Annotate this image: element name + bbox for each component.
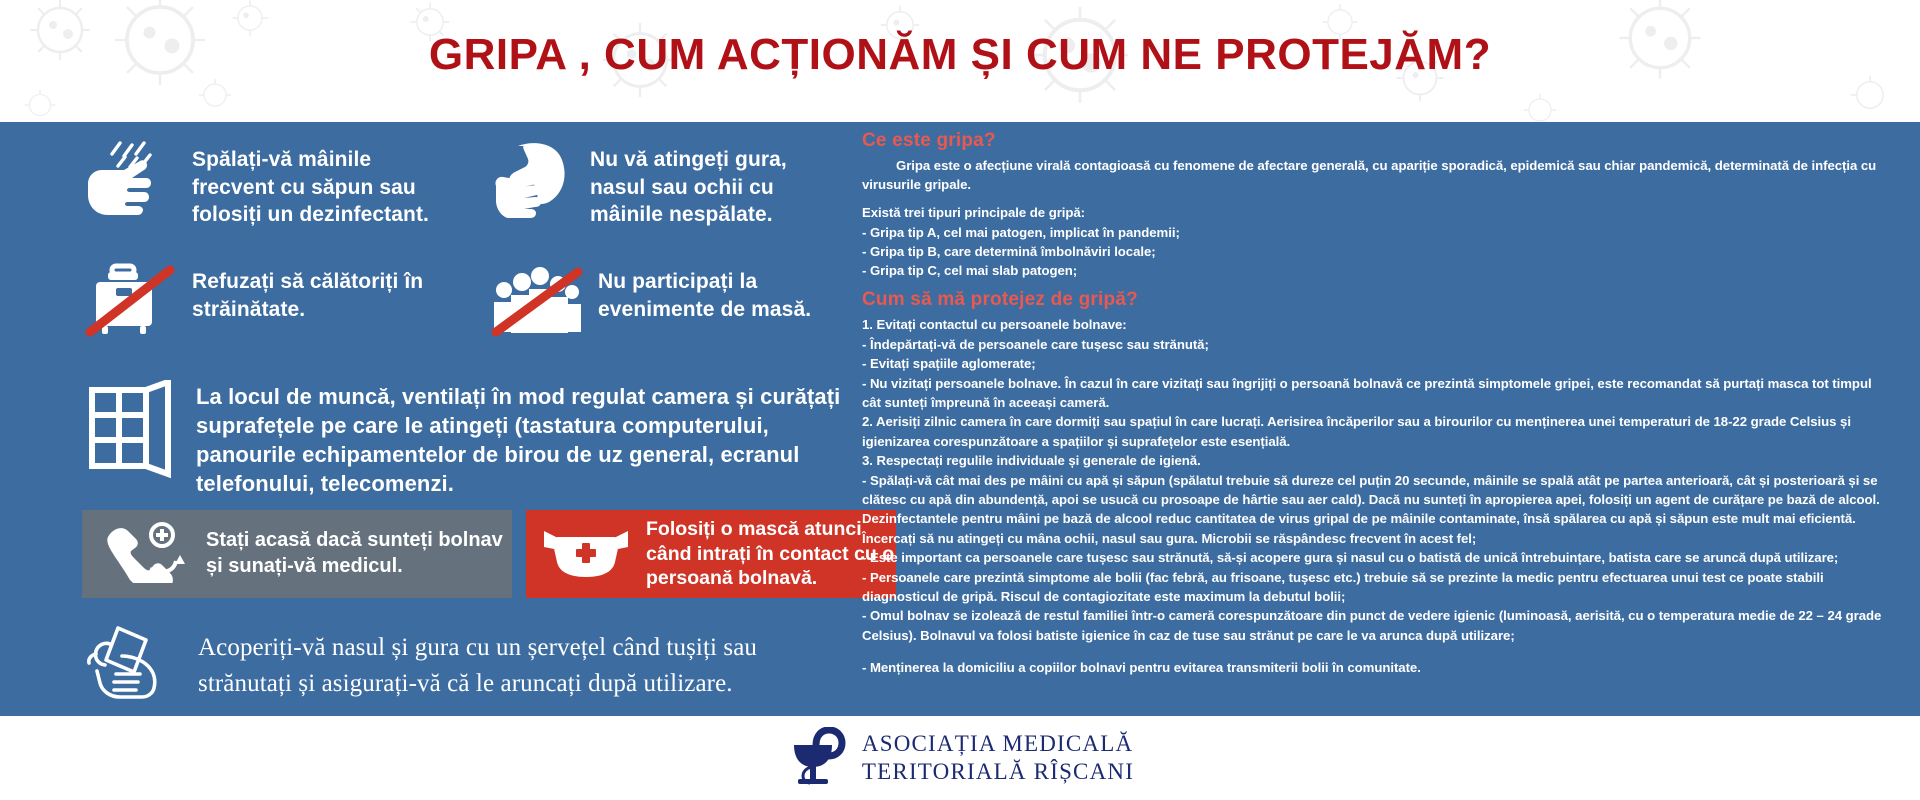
poster-footer: ASOCIAȚIA MEDICALĂ TERITORIALĂ RÎȘCANI (0, 716, 1920, 800)
prevention-tips-column: Spălați-vă mâinile frecvent cu săpun sau… (40, 122, 850, 716)
no-face-touch-icon (488, 140, 576, 218)
organization-name-line1: ASOCIAȚIA MEDICALĂ (862, 730, 1134, 758)
bowl-of-hygieia-icon (786, 727, 848, 789)
organization-name-line2: TERITORIALĂ RÎȘCANI (862, 758, 1134, 786)
box-wear-mask-label: Folosiți o mască atunci când intrați în … (646, 517, 896, 592)
tip-workplace-ventilation: La locul de muncă, ventilați în mod regu… (82, 380, 852, 498)
protection-item-7: - Spălați-vă cât mai des pe mâini cu apă… (862, 471, 1892, 549)
open-window-icon (82, 380, 178, 480)
organization-name: ASOCIAȚIA MEDICALĂ TERITORIALĂ RÎȘCANI (862, 730, 1134, 786)
organization-logo: ASOCIAȚIA MEDICALĂ TERITORIALĂ RÎȘCANI (786, 727, 1134, 789)
box-wear-mask: Folosiți o mască atunci când intrați în … (526, 510, 896, 598)
protection-item-4: - Nu vizitați persoanele bolnave. În caz… (862, 374, 1892, 413)
flu-types-list: Există trei tipuri principale de gripă: … (862, 203, 1892, 280)
tip-wash-hands: Spălați-vă mâinile frecvent cu săpun sau… (82, 140, 452, 229)
poster-header: GRIPA , CUM ACȚIONĂM ȘI CUM NE PROTEJĂM? (0, 0, 1920, 122)
protection-item-10: - Omul bolnav se izolează de restul fami… (862, 606, 1892, 645)
face-mask-icon (542, 523, 630, 586)
page-title: GRIPA , CUM ACȚIONĂM ȘI CUM NE PROTEJĂM? (0, 30, 1920, 80)
washing-hands-icon (82, 140, 178, 218)
protection-item-6: 3. Respectați regulile individuale și ge… (862, 451, 1892, 470)
spacer (862, 645, 1892, 658)
box-stay-home: Stați acasă dacă sunteți bolnav și sunaț… (82, 510, 512, 598)
protection-item-8: - Este important ca persoanele care tușe… (862, 548, 1892, 567)
tip-cover-cough-label: Acoperiți-vă nasul și gura cu un șervețe… (198, 622, 852, 701)
tissue-sneeze-icon (82, 622, 178, 706)
closing-note: - Menținerea la domiciliu a copiilor bol… (862, 658, 1892, 677)
tip-no-mass-events: Nu participați la evenimente de masă. (488, 262, 848, 340)
heading-what-is-flu: Ce este gripa? (862, 130, 1892, 152)
tip-no-mass-events-label: Nu participați la evenimente de masă. (598, 262, 848, 323)
tip-wash-hands-label: Spălați-vă mâinile frecvent cu săpun sau… (192, 140, 452, 229)
no-crowd-icon (488, 262, 584, 340)
flu-type-a: - Gripa tip A, cel mai patogen, implicat… (862, 223, 1892, 242)
information-column: Ce este gripa? Gripa este o afecțiune vi… (862, 130, 1892, 710)
flu-type-c: - Gripa tip C, cel mai slab patogen; (862, 261, 1892, 280)
infographic-poster: GRIPA , CUM ACȚIONĂM ȘI CUM NE PROTEJĂM? (0, 0, 1920, 800)
no-suitcase-icon (82, 262, 178, 340)
tip-no-travel-label: Refuzați să călătoriți în străinătate. (192, 262, 452, 323)
phone-medical-icon (98, 521, 190, 588)
tip-no-travel: Refuzați să călătoriți în străinătate. (82, 262, 452, 340)
protection-item-3: - Evitați spațiile aglomerate; (862, 354, 1892, 373)
protection-item-9: - Persoanele care prezintă simptome ale … (862, 568, 1892, 607)
protection-item-2: - Îndepărtați-vă de persoanele care tușe… (862, 335, 1892, 354)
protection-measures-list: 1. Evitați contactul cu persoanele bolna… (862, 315, 1892, 677)
main-panel: Spălați-vă mâinile frecvent cu săpun sau… (0, 122, 1920, 716)
protection-item-5: 2. Aerisiți zilnic camera în care dormiț… (862, 412, 1892, 451)
protection-item-1: 1. Evitați contactul cu persoanele bolna… (862, 315, 1892, 334)
flu-types-intro: Există trei tipuri principale de gripă: (862, 203, 1892, 222)
tip-workplace-ventilation-label: La locul de muncă, ventilați în mod regu… (196, 380, 852, 498)
tip-cover-cough: Acoperiți-vă nasul și gura cu un șervețe… (82, 622, 852, 706)
heading-how-to-protect: Cum să mă protejez de gripă? (862, 289, 1892, 311)
box-stay-home-label: Stați acasă dacă sunteți bolnav și sunaț… (206, 528, 512, 579)
tip-dont-touch-face: Nu vă atingeți gura, nasul sau ochii cu … (488, 140, 848, 229)
flu-type-b: - Gripa tip B, care determină îmbolnăvir… (862, 242, 1892, 261)
tip-dont-touch-face-label: Nu vă atingeți gura, nasul sau ochii cu … (590, 140, 848, 229)
paragraph-what-is-flu: Gripa este o afecțiune virală contagioas… (862, 156, 1892, 194)
